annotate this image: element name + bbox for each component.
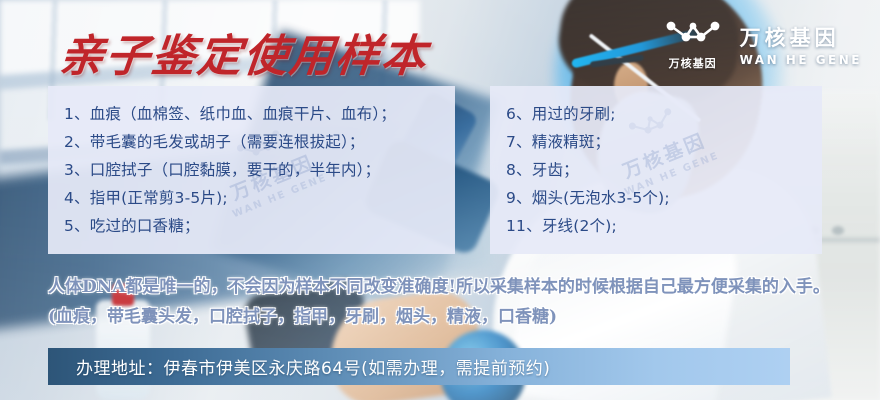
sample-list-left: 1、血痕（血棉签、纸巾血、血痕干片、血布）； 2、带毛囊的毛发或胡子（需要连根拔… (48, 86, 455, 240)
dna-molecule-icon (662, 18, 724, 52)
list-item: 8、牙齿； (506, 156, 822, 184)
brand-text: 万核基因 WAN HE GENE (740, 22, 862, 67)
sample-list-right: 6、用过的牙刷; 7、精液精斑； 8、牙齿； 9、烟头(无泡水3-5个); 11… (490, 86, 822, 240)
list-item: 9、烟头(无泡水3-5个); (506, 184, 822, 212)
list-item: 3、口腔拭子（口腔黏膜，要干的，半年内）； (64, 156, 455, 184)
list-item: 4、指甲(正常剪3-5片); (64, 184, 455, 212)
list-item: 6、用过的牙刷; (506, 100, 822, 128)
list-item: 11、牙线(2个); (506, 212, 822, 240)
promotional-banner: 亲子鉴定使用样本 (0, 0, 880, 400)
explanatory-paragraph: 人体DNA都是唯一的，不会因为样本不同改变准确度!所以采集样本的时候根据自己最方… (48, 272, 838, 332)
list-item: 7、精液精斑； (506, 128, 822, 156)
sample-list-panel-right: 万核基因 WAN HE GENE 6、用过的牙刷; 7、精液精斑； 8、牙齿； … (490, 86, 822, 254)
brand-name-cn: 万核基因 (740, 22, 840, 52)
brand-logo: 万核基因 万核基因 WAN HE GENE (662, 18, 862, 71)
list-item: 1、血痕（血棉签、纸巾血、血痕干片、血布）； (64, 100, 455, 128)
brand-mark-name: 万核基因 (669, 55, 717, 71)
address-bar: 办理地址：伊春市伊美区永庆路64号(如需办理，需提前预约) (48, 348, 790, 385)
address-text: 办理地址：伊春市伊美区永庆路64号(如需办理，需提前预约) (48, 354, 550, 379)
brand-name-en: WAN HE GENE (740, 53, 862, 67)
list-item: 5、吃过的口香糖； (64, 212, 455, 240)
page-title: 亲子鉴定使用样本 (57, 20, 432, 84)
sample-list-panel-left: 万核基因 WAN HE GENE 1、血痕（血棉签、纸巾血、血痕干片、血布）； … (48, 86, 455, 254)
brand-mark: 万核基因 (662, 18, 724, 71)
list-item: 2、带毛囊的毛发或胡子（需要连根拔起）； (64, 128, 455, 156)
